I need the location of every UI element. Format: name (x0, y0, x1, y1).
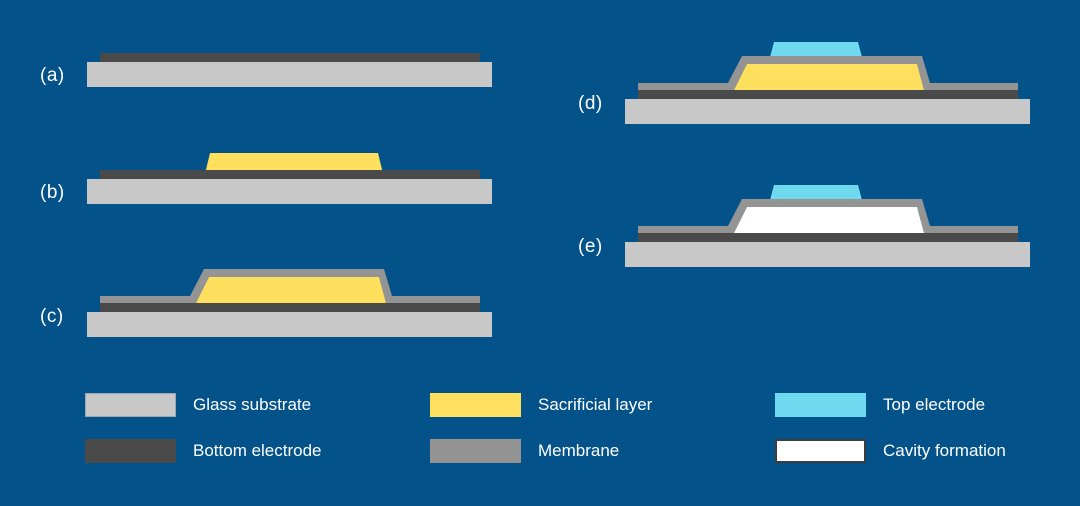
legend-swatch-cavity-formation (775, 439, 866, 463)
layer-bottom-electrode (100, 53, 480, 62)
legend-swatch-glass-substrate (85, 393, 176, 417)
legend-item-glass-substrate: Glass substrate (85, 392, 311, 418)
legend-column-1: Glass substrate Bottom electrode (85, 392, 405, 472)
legend-label-sacrificial-layer: Sacrificial layer (538, 395, 652, 415)
panel-e-label: (e) (578, 236, 603, 258)
legend-column-3: Top electrode Cavity formation (775, 392, 1080, 472)
legend-label-glass-substrate: Glass substrate (193, 395, 311, 415)
panel-d: (d) (578, 35, 1038, 125)
legend-item-bottom-electrode: Bottom electrode (85, 438, 322, 464)
legend-label-bottom-electrode: Bottom electrode (193, 441, 322, 461)
legend-swatch-sacrificial-layer (430, 393, 521, 417)
layer-cavity (734, 207, 924, 233)
layer-bottom-electrode (100, 303, 480, 312)
panel-b: (b) (40, 140, 500, 215)
layer-glass-substrate (625, 242, 1030, 267)
process-flow-figure: (a) (b) (c) (0, 0, 1080, 506)
legend-swatch-top-electrode (775, 393, 866, 417)
layer-glass-substrate (87, 312, 492, 337)
panel-a-cross-section (40, 48, 500, 98)
legend: Glass substrate Bottom electrode Sacrifi… (85, 392, 1035, 472)
legend-item-membrane: Membrane (430, 438, 619, 464)
legend-label-top-electrode: Top electrode (883, 395, 985, 415)
panel-b-label: (b) (40, 182, 65, 204)
layer-glass-substrate (625, 99, 1030, 124)
panel-c-cross-section (40, 258, 500, 338)
panel-b-cross-section (40, 140, 500, 215)
panel-a-label: (a) (40, 65, 65, 87)
legend-item-top-electrode: Top electrode (775, 392, 985, 418)
layer-glass-substrate (87, 62, 492, 87)
legend-item-cavity-formation: Cavity formation (775, 438, 1006, 464)
legend-label-cavity-formation: Cavity formation (883, 441, 1006, 461)
legend-item-sacrificial-layer: Sacrificial layer (430, 392, 652, 418)
panel-d-label: (d) (578, 93, 603, 115)
panel-c: (c) (40, 258, 500, 338)
legend-swatch-membrane (430, 439, 521, 463)
panel-e: (e) (578, 178, 1038, 268)
layer-sacrificial (196, 277, 386, 303)
panel-a: (a) (40, 48, 500, 98)
layer-bottom-electrode (638, 233, 1018, 242)
panel-c-label: (c) (40, 306, 64, 328)
panel-e-cross-section (578, 178, 1038, 268)
legend-swatch-bottom-electrode (85, 439, 176, 463)
layer-sacrificial (734, 64, 924, 90)
panel-d-cross-section (578, 35, 1038, 125)
layer-glass-substrate (87, 179, 492, 204)
layer-bottom-electrode (638, 90, 1018, 99)
legend-label-membrane: Membrane (538, 441, 619, 461)
legend-column-2: Sacrificial layer Membrane (430, 392, 750, 472)
layer-bottom-electrode (100, 170, 480, 179)
